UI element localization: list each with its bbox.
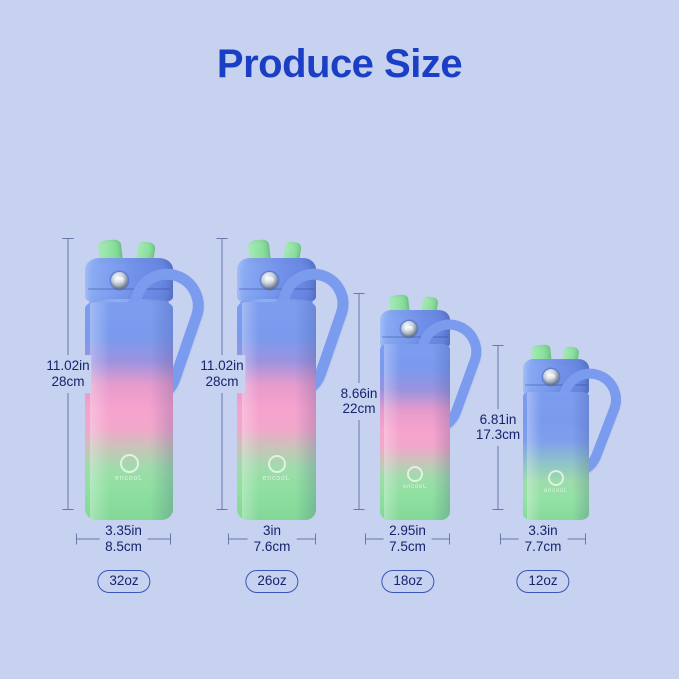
dimension-tick [493,509,504,510]
height-cm: 17.3cm [476,428,520,444]
bottle-body [523,392,589,520]
height-dimension-12oz: 6.81in 17.3cm [472,345,524,510]
height-inches: 8.66in [341,386,378,402]
dimension-tick [217,238,228,239]
width-label: 3.35in 8.5cm [99,522,148,556]
lid-button-icon [261,272,278,289]
height-dimension-26oz: 11.02in 28cm [196,238,248,510]
bottle-illustration-26oz: encooL [237,240,316,520]
dimension-tick [354,509,365,510]
dimension-tick [315,534,316,545]
body-gradient [523,392,589,520]
width-dimension-18oz: 2.95in 7.5cm [365,532,450,546]
product-size-chart: encooL 11.02in 28cm 3.35in 8.5cm 32oz [0,0,679,679]
width-cm: 7.7cm [525,539,562,555]
dimension-tick [365,534,366,545]
capacity-badge-26oz[interactable]: 26oz [245,570,298,593]
capacity-badge-18oz[interactable]: 18oz [381,570,434,593]
dimension-tick [493,345,504,346]
height-cm: 28cm [46,374,89,390]
body-gradient [380,344,450,520]
width-cm: 7.6cm [254,539,291,555]
height-cm: 28cm [200,374,243,390]
dimension-tick [228,534,229,545]
width-inches: 3in [254,523,291,539]
dimension-tick [500,534,501,545]
bottle-body [85,302,173,520]
width-dimension-32oz: 3.35in 8.5cm [76,532,171,546]
dimension-tick [217,509,228,510]
height-dimension-32oz: 11.02in 28cm [42,238,94,510]
height-dimension-18oz: 8.66in 22cm [333,293,385,510]
width-inches: 3.3in [525,523,562,539]
width-inches: 3.35in [105,523,142,539]
bottle-body [237,302,316,520]
capacity-badge-12oz[interactable]: 12oz [516,570,569,593]
body-gradient [85,302,173,520]
height-inches: 11.02in [46,358,89,374]
width-label: 3in 7.6cm [248,522,297,556]
height-label: 11.02in 28cm [44,355,91,393]
capacity-badge-32oz[interactable]: 32oz [97,570,150,593]
height-inches: 6.81in [476,412,520,428]
lid-button-icon [111,272,128,289]
height-label: 6.81in 17.3cm [474,409,522,447]
width-dimension-12oz: 3.3in 7.7cm [500,532,586,546]
lid-button-icon [401,321,417,337]
bottle-illustration-18oz: encooL [380,295,450,520]
width-label: 3.3in 7.7cm [519,522,568,556]
width-dimension-26oz: 3in 7.6cm [228,532,316,546]
width-inches: 2.95in [389,523,426,539]
height-label: 8.66in 22cm [339,383,380,421]
bottle-illustration-32oz: encooL [85,240,173,520]
bottle-illustration-12oz: encooL [523,345,589,520]
bottle-body [380,344,450,520]
dimension-tick [449,534,450,545]
height-cm: 22cm [341,402,378,418]
height-inches: 11.02in [200,358,243,374]
dimension-tick [76,534,77,545]
dimension-tick [170,534,171,545]
width-cm: 8.5cm [105,539,142,555]
dimension-tick [63,238,74,239]
dimension-tick [585,534,586,545]
dimension-tick [354,293,365,294]
width-label: 2.95in 7.5cm [383,522,432,556]
height-label: 11.02in 28cm [198,355,245,393]
dimension-tick [63,509,74,510]
body-gradient [237,302,316,520]
lid-button-icon [543,369,559,385]
width-cm: 7.5cm [389,539,426,555]
